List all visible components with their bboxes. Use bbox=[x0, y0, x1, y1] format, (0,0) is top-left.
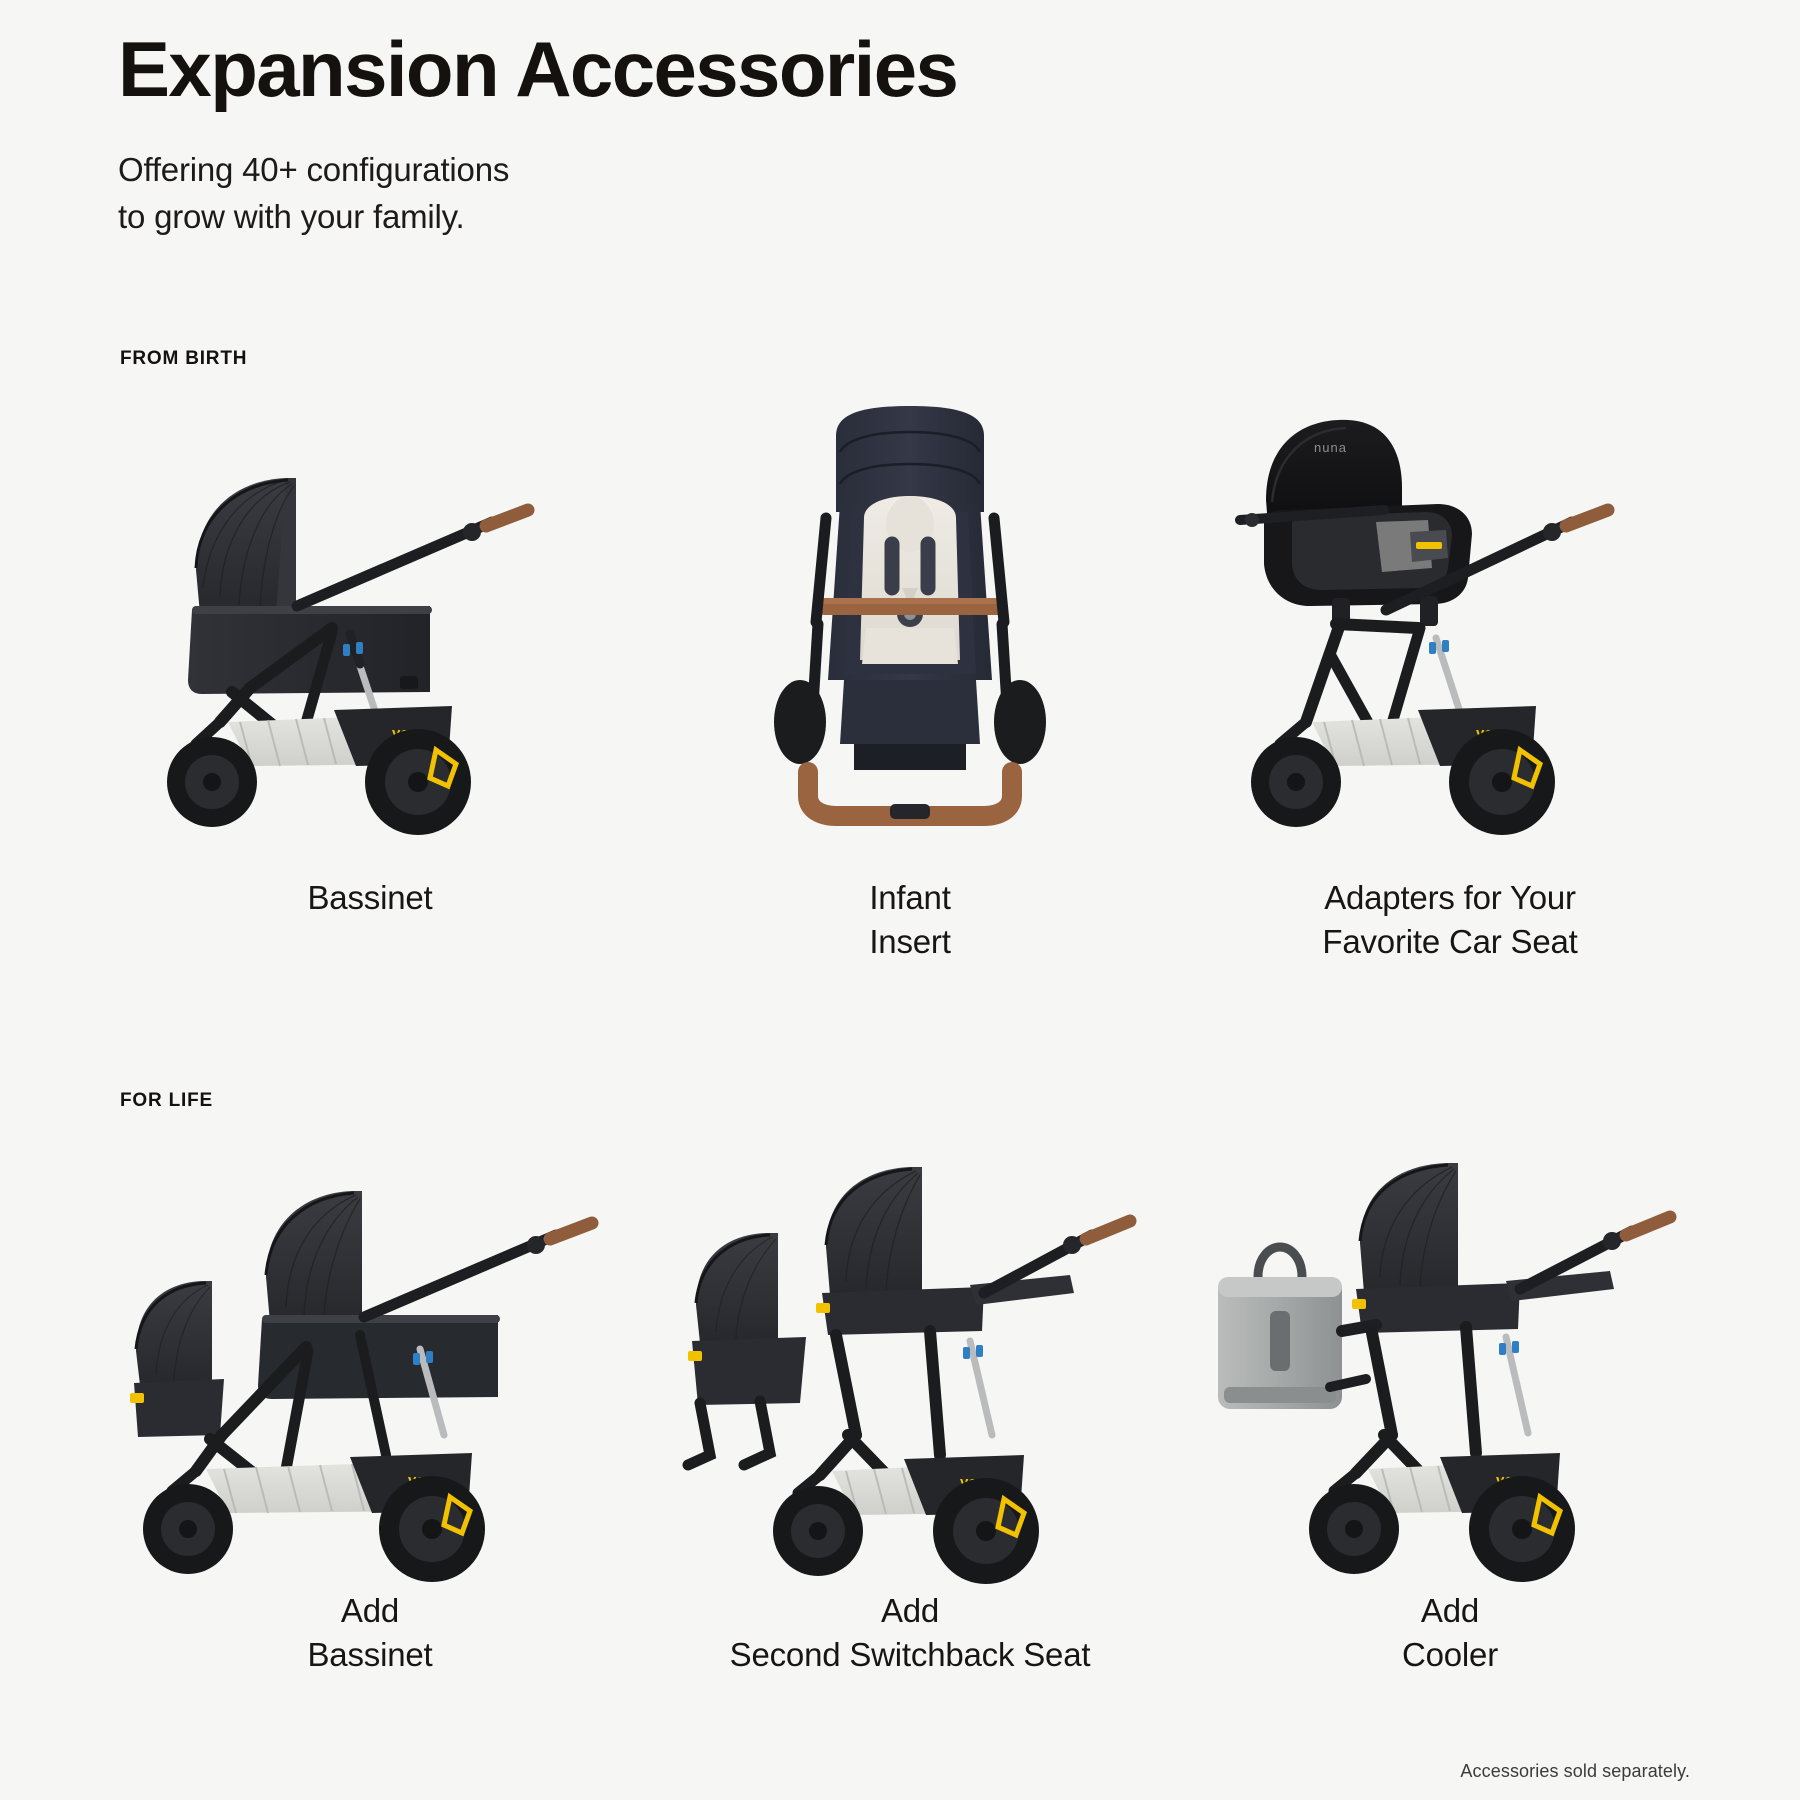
caption-line: Cooler bbox=[1402, 1633, 1498, 1677]
rear-wheel bbox=[1469, 1476, 1575, 1582]
product-image-stroller-with-bassinet: veer bbox=[100, 392, 640, 862]
caption-line: Add bbox=[1402, 1589, 1498, 1633]
handlebar bbox=[364, 1223, 592, 1317]
bassinet-canopy bbox=[196, 478, 296, 614]
page-title: Expansion Accessories bbox=[118, 28, 1318, 111]
product-image-add-bassinet: veer bbox=[100, 1135, 640, 1575]
handlebar bbox=[297, 510, 528, 606]
bumper-bar bbox=[816, 598, 1006, 615]
product-image-infant-insert bbox=[640, 392, 1180, 862]
caption-add-second-seat: Add Second Switchback Seat bbox=[730, 1589, 1091, 1677]
footwell bbox=[840, 680, 980, 770]
caption-infant-insert: Infant Insert bbox=[869, 876, 950, 964]
rear-wheel bbox=[365, 729, 471, 835]
caption-line: Insert bbox=[869, 920, 950, 964]
accessory-card-add-cooler[interactable]: veer Add bbox=[1180, 1135, 1720, 1775]
front-wheel bbox=[1309, 1484, 1399, 1574]
product-image-two-seats: veer bbox=[640, 1135, 1180, 1575]
nuna-logo-text: nuna bbox=[1314, 440, 1347, 455]
front-seat-canopy bbox=[696, 1233, 778, 1343]
product-image-cooler: veer bbox=[1180, 1135, 1720, 1575]
suspension-strut bbox=[1429, 638, 1460, 712]
accessory-card-bassinet[interactable]: veer Bassin bbox=[100, 392, 640, 1072]
rear-wheel bbox=[933, 1478, 1039, 1584]
caption-line: Add bbox=[730, 1589, 1091, 1633]
caption-line: Bassinet bbox=[308, 876, 433, 920]
front-wheel bbox=[1251, 737, 1341, 827]
handlebar-tan bbox=[808, 772, 1012, 819]
footnote-accessories-sold-separately: Accessories sold separately. bbox=[1460, 1761, 1690, 1782]
page-subtitle: Offering 40+ configurations to grow with… bbox=[118, 147, 1318, 241]
caption-line: Favorite Car Seat bbox=[1322, 920, 1577, 964]
caption-line: Adapters for Your bbox=[1322, 876, 1577, 920]
subtitle-line-1: Offering 40+ configurations bbox=[118, 147, 1318, 194]
accessory-card-add-second-seat[interactable]: veer Add bbox=[640, 1135, 1180, 1775]
product-image-car-seat: nuna bbox=[1180, 392, 1720, 862]
caption-add-cooler: Add Cooler bbox=[1402, 1589, 1498, 1677]
lower-seat-canopy bbox=[136, 1281, 212, 1385]
section-label-for-life: FOR LIFE bbox=[120, 1090, 213, 1112]
infant-insert-pad bbox=[860, 496, 960, 664]
caption-car-seat-adapters: Adapters for Your Favorite Car Seat bbox=[1322, 876, 1577, 964]
page-header: Expansion Accessories Offering 40+ confi… bbox=[118, 28, 1318, 240]
rear-wheel bbox=[1449, 729, 1555, 835]
rear-seat-canopy bbox=[826, 1167, 922, 1295]
front-wheel bbox=[143, 1484, 233, 1574]
caption-add-bassinet: Add Bassinet bbox=[308, 1589, 433, 1677]
section-from-birth-grid: veer Bassin bbox=[100, 392, 1720, 1072]
caption-line: Add bbox=[308, 1589, 433, 1633]
rear-wheel bbox=[379, 1476, 485, 1582]
suspension-strut bbox=[963, 1341, 992, 1435]
accessory-card-add-bassinet[interactable]: veer Add bbox=[100, 1135, 640, 1775]
caption-line: Bassinet bbox=[308, 1633, 433, 1677]
front-wheel bbox=[773, 1486, 863, 1576]
section-for-life-grid: veer Add bbox=[100, 1135, 1720, 1775]
accessory-card-infant-insert[interactable]: Infant Insert bbox=[640, 392, 1180, 1072]
caption-line: Second Switchback Seat bbox=[730, 1633, 1091, 1677]
front-wheel bbox=[167, 737, 257, 827]
expansion-accessories-page: Expansion Accessories Offering 40+ confi… bbox=[0, 0, 1800, 1800]
front-seat-body bbox=[688, 1337, 806, 1465]
subtitle-line-2: to grow with your family. bbox=[118, 194, 1318, 241]
bassinet-canopy bbox=[266, 1191, 362, 1323]
accessory-card-car-seat-adapters[interactable]: nuna bbox=[1180, 392, 1720, 1072]
suspension-strut bbox=[1499, 1337, 1528, 1433]
seat-canopy bbox=[1360, 1163, 1458, 1293]
caption-line: Infant bbox=[869, 876, 950, 920]
caption-bassinet: Bassinet bbox=[308, 876, 433, 920]
lower-seat-body bbox=[130, 1379, 224, 1437]
cooler-bag bbox=[1218, 1247, 1342, 1409]
section-label-from-birth: FROM BIRTH bbox=[120, 348, 247, 370]
